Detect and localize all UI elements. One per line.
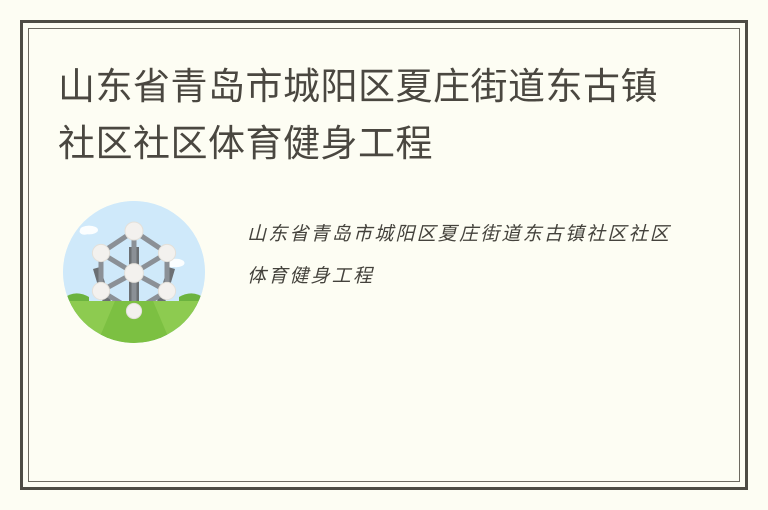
page-title: 山东省青岛市城阳区夏庄街道东古镇社区社区体育健身工程 [58,58,658,172]
atomium-monument-illustration [63,201,205,343]
atomium-icon [63,201,205,343]
content-row: 山东省青岛市城阳区夏庄街道东古镇社区社区体育健身工程 [63,201,715,343]
description-text: 山东省青岛市城阳区夏庄街道东古镇社区社区体育健身工程 [247,214,677,298]
content-card: 山东省青岛市城阳区夏庄街道东古镇社区社区体育健身工程 [20,20,748,490]
